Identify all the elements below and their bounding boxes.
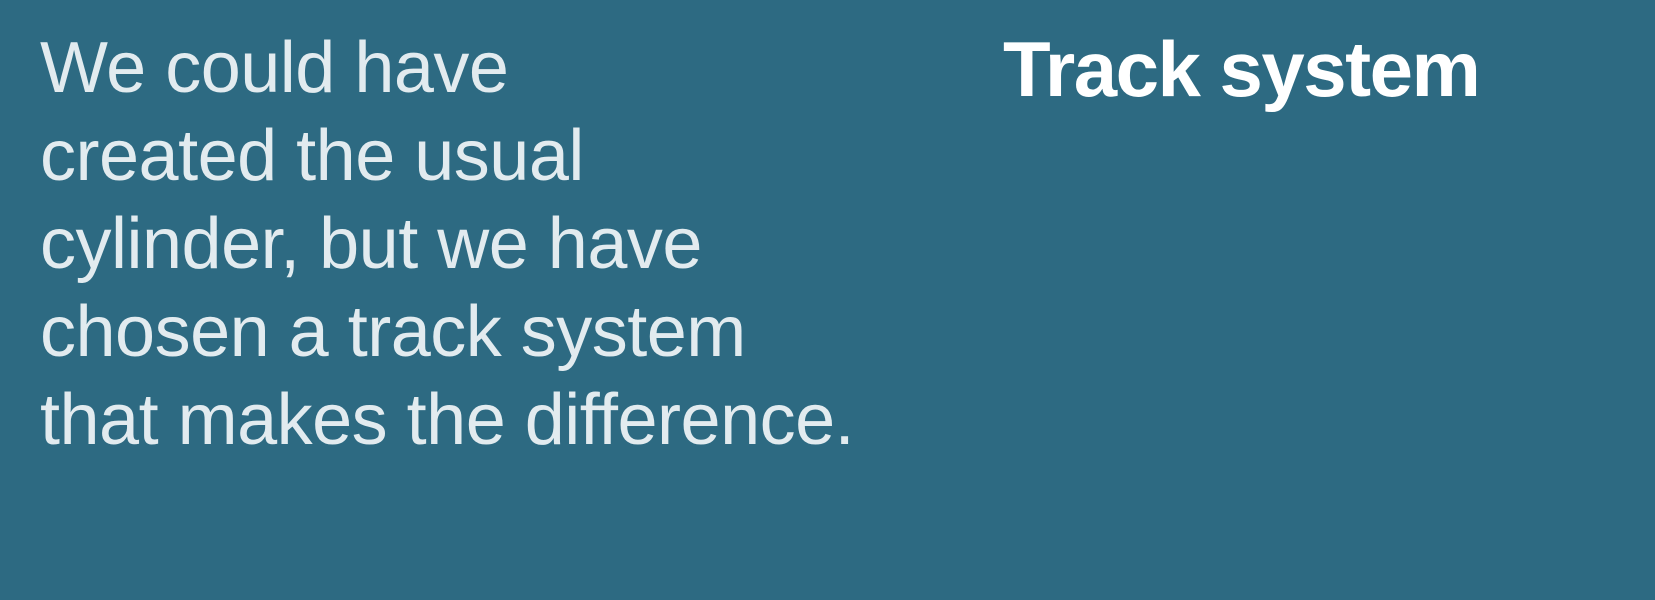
- body-copy-line-4: chosen a track system: [40, 288, 980, 376]
- section-heading: Track system: [1003, 25, 1479, 113]
- promo-banner: We could have created the usual cylinder…: [0, 0, 1655, 600]
- body-copy-line-2: created the usual: [40, 112, 980, 200]
- body-copy-line-5: that makes the difference.: [40, 376, 980, 464]
- body-copy-line-3: cylinder, but we have: [40, 200, 980, 288]
- body-copy-line-1: We could have: [40, 24, 980, 112]
- body-copy-block: We could have created the usual cylinder…: [40, 24, 980, 464]
